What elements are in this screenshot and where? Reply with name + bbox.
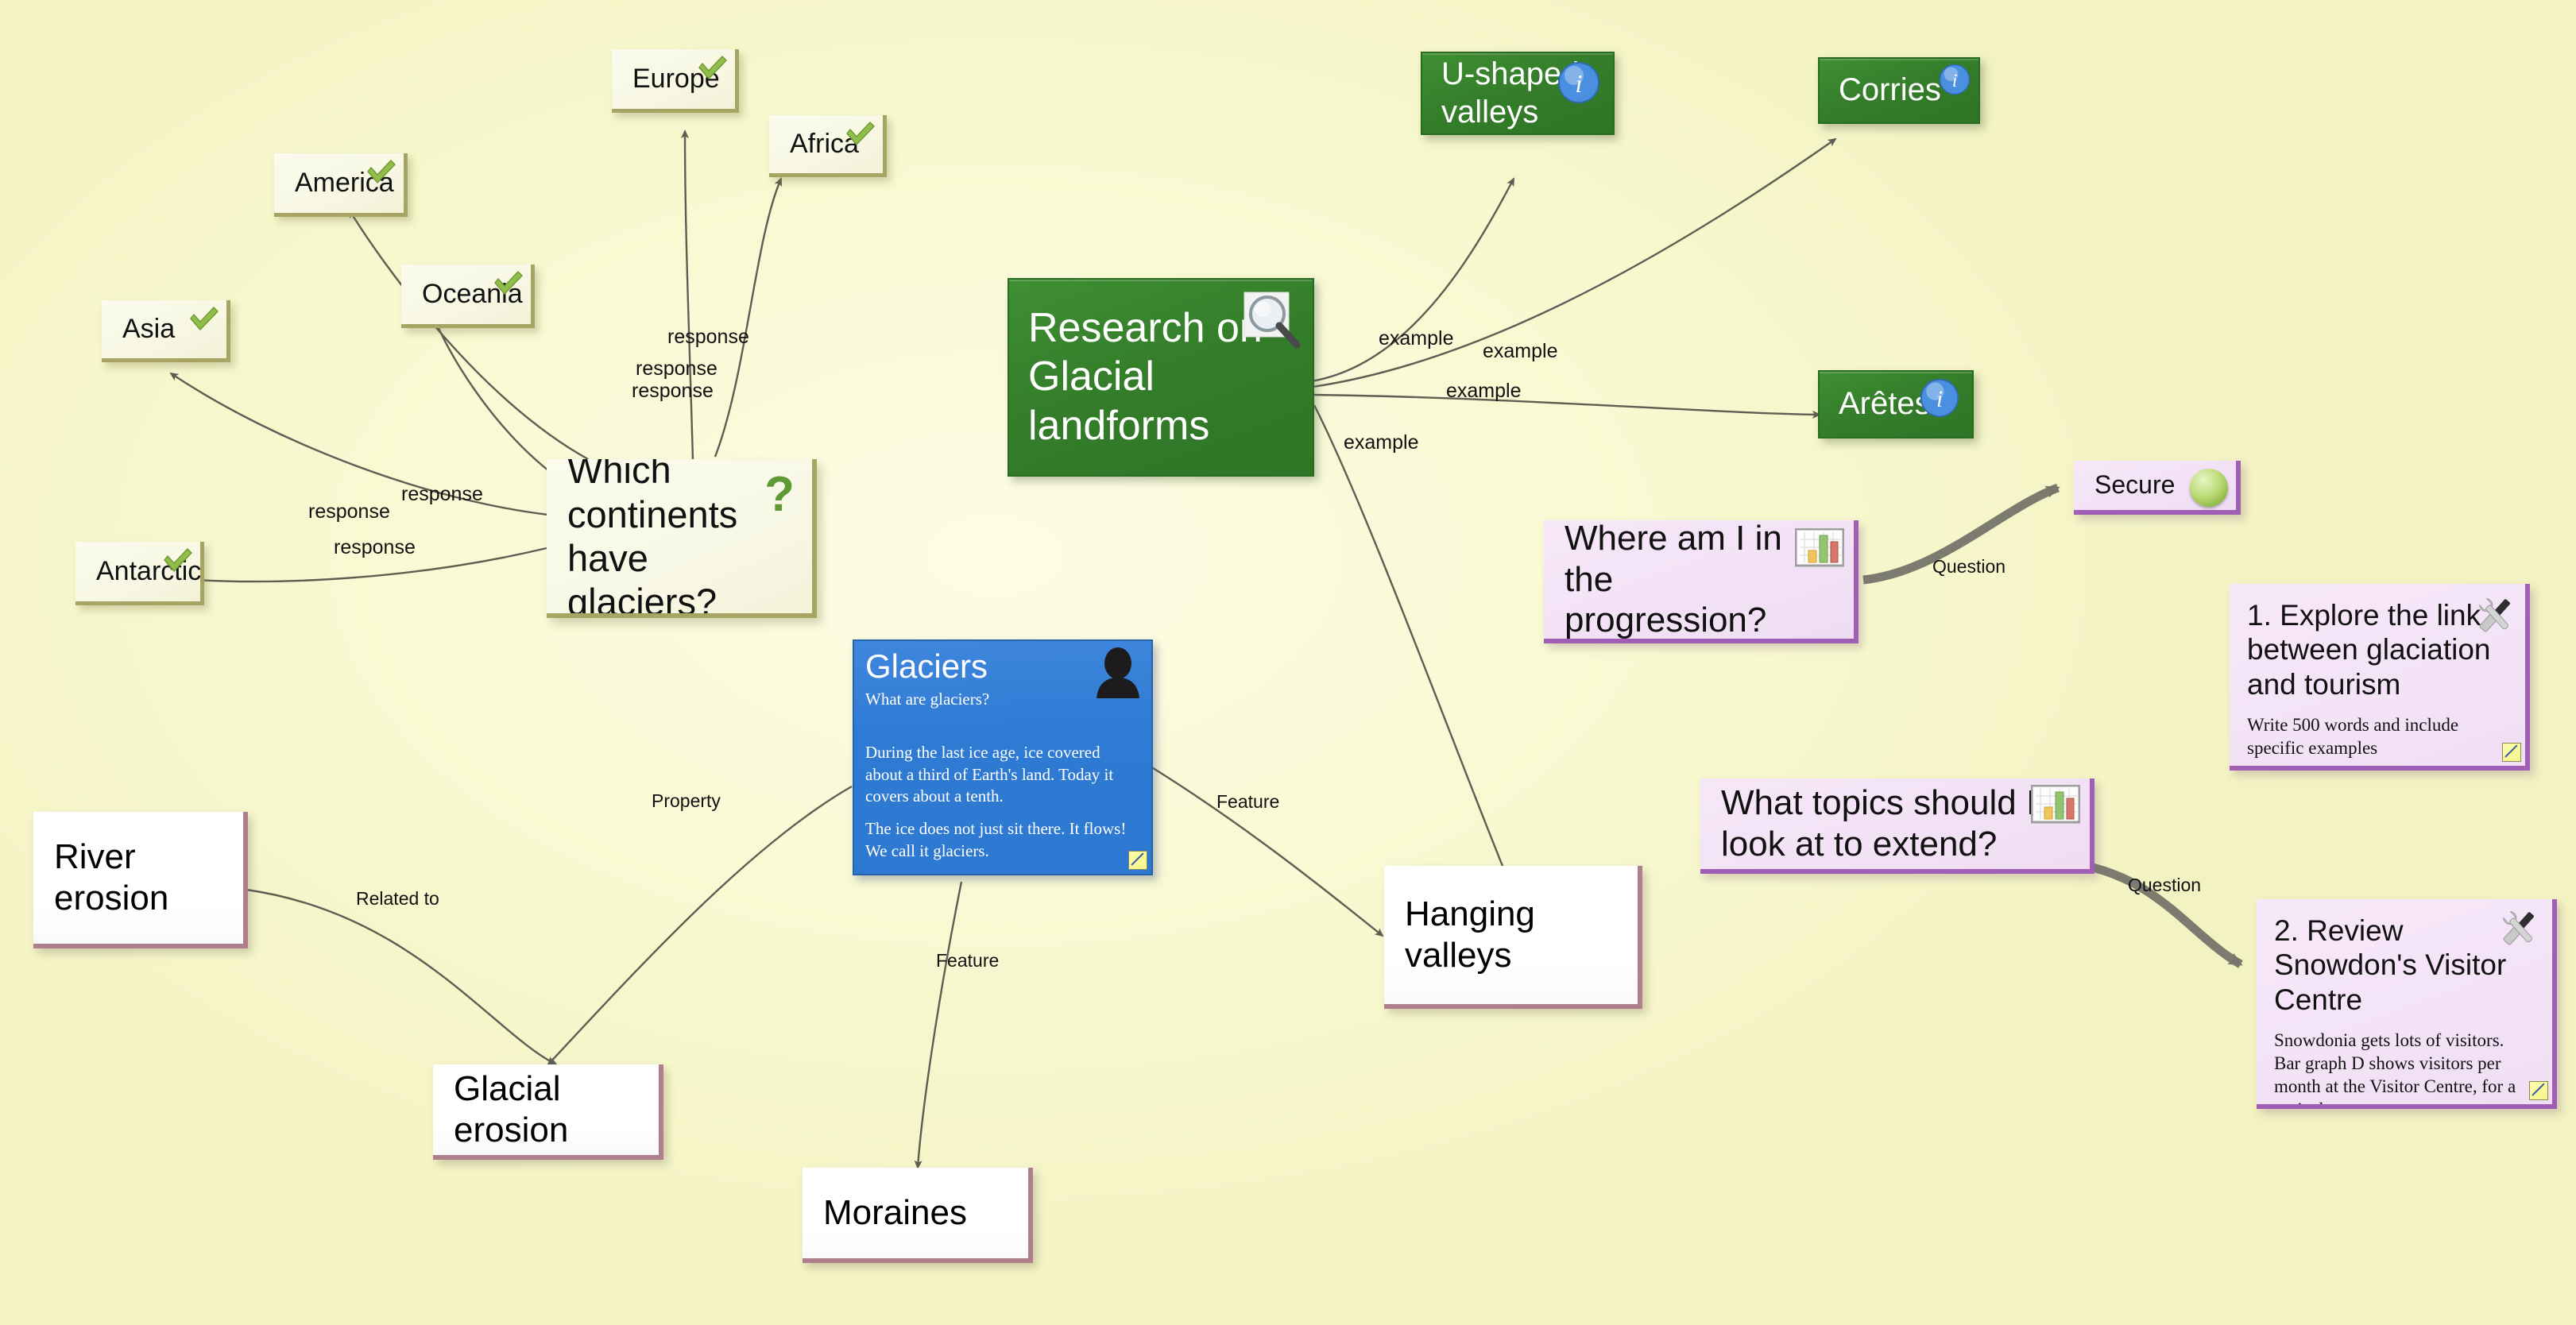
node-label: Arêtes	[1839, 385, 1931, 423]
resize-handle[interactable]	[2502, 743, 2521, 762]
node-label: Hanging valleys	[1405, 894, 1617, 976]
node-moraines[interactable]: Moraines	[803, 1168, 1033, 1263]
task-title: 2. Review Snowdon's Visitor Centre	[2274, 914, 2535, 1017]
edge-label: Feature	[1216, 791, 1279, 813]
node-label: Antarctic	[96, 555, 201, 587]
node-label: Oceania	[422, 278, 523, 310]
node-label: River erosion	[54, 836, 222, 919]
node-u-shaped-valleys[interactable]: U-shaped valleys i	[1421, 52, 1615, 135]
node-oceania[interactable]: Oceania	[401, 265, 535, 328]
note-paragraph: The ice does not just sit there. It flow…	[865, 818, 1140, 862]
node-secure[interactable]: Secure	[2074, 461, 2241, 515]
edge-label: response	[667, 326, 749, 349]
node-label: What topics should I look at to extend?	[1721, 782, 2036, 865]
task-body: Write 500 words and include specific exa…	[2247, 714, 2508, 760]
bar-chart-icon	[2031, 785, 2080, 826]
svg-text:i: i	[1936, 387, 1943, 412]
node-label: Africa	[790, 128, 859, 160]
node-label: Glacial erosion	[454, 1068, 638, 1151]
edge-label: response	[636, 357, 717, 381]
node-research-on-glacial-landforms[interactable]: Research on Glacial landforms	[1008, 278, 1314, 477]
node-label: Europe	[632, 63, 720, 95]
note-title: Glaciers	[865, 649, 1140, 684]
node-label: Moraines	[823, 1192, 967, 1234]
node-america[interactable]: America	[274, 153, 408, 217]
task-title: 1. Explore the link between glaciation a…	[2247, 598, 2508, 701]
node-hanging-valleys[interactable]: Hanging valleys	[1384, 866, 1642, 1009]
node-aretes[interactable]: Arêtes i	[1818, 370, 1974, 438]
note-glaciers[interactable]: Glaciers What are glaciers? During the l…	[853, 639, 1153, 875]
svg-text:i: i	[1952, 71, 1958, 91]
node-corries[interactable]: Corries i	[1818, 57, 1980, 124]
note-paragraph: Glaciers are large masses of ice that fl…	[865, 873, 1140, 875]
check-icon	[188, 305, 220, 332]
node-label: Secure	[2094, 470, 2175, 500]
edge-label: response	[401, 483, 483, 506]
node-label: Corries	[1839, 71, 1941, 109]
resize-handle[interactable]	[2529, 1081, 2548, 1100]
question-mark-icon: ?	[764, 470, 795, 520]
edge-label: example	[1344, 431, 1419, 454]
edge-label: example	[1483, 340, 1558, 363]
edge-label: response	[632, 380, 714, 403]
node-what-topics-should-i-look-at-to-extend[interactable]: What topics should I look at to extend?	[1700, 778, 2094, 874]
edge-label: example	[1379, 327, 1454, 350]
edge-label: Property	[652, 790, 721, 812]
node-asia[interactable]: Asia	[102, 300, 230, 362]
node-antarctic[interactable]: Antarctic	[75, 542, 204, 605]
task-body: Snowdonia gets lots of visitors. Bar gra…	[2274, 1029, 2535, 1109]
node-label: Where am I in the progression?	[1565, 520, 1782, 641]
green-sphere-icon	[2190, 469, 2228, 507]
node-which-continents-have-glaciers[interactable]: Which continents have glaciers? ?	[547, 459, 817, 618]
edge-label: Feature	[936, 950, 999, 972]
node-label: Which continents have glaciers?	[567, 459, 737, 618]
edge-label: Question	[2128, 875, 2201, 896]
edge-label: example	[1446, 380, 1522, 403]
node-label: America	[295, 167, 394, 199]
task-card-1[interactable]: 1. Explore the link between glaciation a…	[2230, 584, 2530, 771]
node-label: Asia	[122, 313, 175, 345]
node-africa[interactable]: Africa	[769, 115, 887, 177]
edge-label: response	[308, 500, 390, 523]
info-icon: i	[1939, 64, 1971, 95]
mind-map-canvas[interactable]: response response response response resp…	[0, 0, 2576, 1325]
node-europe[interactable]: Europe	[612, 49, 739, 113]
task-card-2[interactable]: 2. Review Snowdon's Visitor Centre Snowd…	[2257, 899, 2557, 1109]
node-label: Research on Glacial landforms	[1028, 304, 1263, 450]
node-river-erosion[interactable]: River erosion	[33, 812, 248, 948]
node-label: U-shaped valleys	[1441, 56, 1579, 130]
bar-chart-icon	[1795, 528, 1844, 570]
note-paragraph: During the last ice age, ice covered abo…	[865, 742, 1140, 807]
edge-label: response	[334, 536, 416, 559]
edge-label: Question	[1932, 556, 2005, 578]
resize-handle[interactable]	[1128, 851, 1147, 870]
edge-label: Related to	[356, 888, 439, 910]
node-where-am-i-in-the-progression[interactable]: Where am I in the progression?	[1544, 520, 1859, 643]
node-glacial-erosion[interactable]: Glacial erosion	[433, 1064, 663, 1160]
note-question: What are glaciers?	[865, 689, 1140, 710]
